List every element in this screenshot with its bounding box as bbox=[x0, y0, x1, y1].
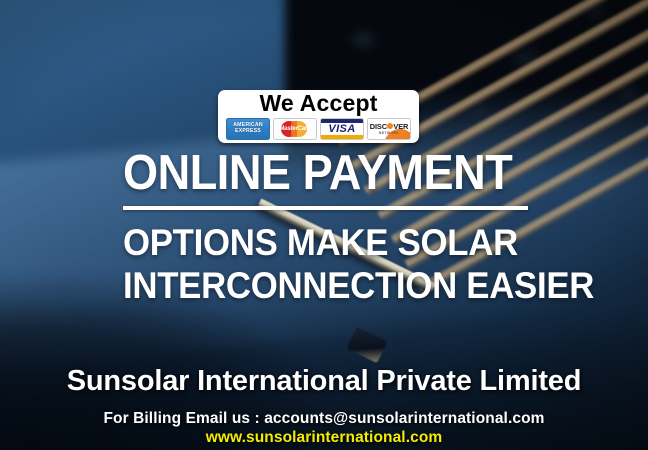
mastercard-label: MasterCard bbox=[275, 126, 315, 132]
discover-label-part2: VER bbox=[393, 122, 408, 131]
banner-image: We Accept AMERICAN EXPRESS MasterCard VI… bbox=[0, 0, 648, 450]
visa-icon: VISA bbox=[320, 118, 364, 140]
billing-email-line: For Billing Email us : accounts@sunsolar… bbox=[0, 410, 648, 428]
discover-icon: DISCVER NETWORK bbox=[367, 118, 411, 140]
visa-label: VISA bbox=[328, 124, 355, 135]
company-name: Sunsolar International Private Limited bbox=[0, 365, 648, 398]
payment-card-logos: AMERICAN EXPRESS MasterCard VISA bbox=[226, 118, 411, 140]
website-url[interactable]: www.sunsolarinternational.com bbox=[0, 429, 648, 447]
we-accept-title: We Accept bbox=[259, 91, 377, 116]
discover-label-part1: DISC bbox=[370, 122, 387, 131]
visa-bottom-bar bbox=[321, 135, 363, 139]
headline-line-2: OPTIONS MAKE SOLAR bbox=[123, 222, 510, 263]
headline-block: ONLINE PAYMENT OPTIONS MAKE SOLAR INTERC… bbox=[123, 148, 535, 306]
headline-line-3: INTERCONNECTION EASIER bbox=[123, 265, 510, 306]
amex-line2: EXPRESS bbox=[235, 128, 261, 134]
discover-label: DISCVER bbox=[370, 123, 409, 131]
mastercard-marks: MasterCard bbox=[275, 120, 315, 139]
we-accept-badge: We Accept AMERICAN EXPRESS MasterCard VI… bbox=[218, 90, 419, 143]
headline-line-1: ONLINE PAYMENT bbox=[123, 148, 502, 198]
american-express-icon: AMERICAN EXPRESS bbox=[226, 118, 270, 140]
discover-sublabel: NETWORK bbox=[379, 131, 399, 135]
mastercard-icon: MasterCard bbox=[273, 118, 317, 140]
amex-label: AMERICAN EXPRESS bbox=[233, 123, 263, 134]
headline-divider bbox=[123, 206, 528, 210]
